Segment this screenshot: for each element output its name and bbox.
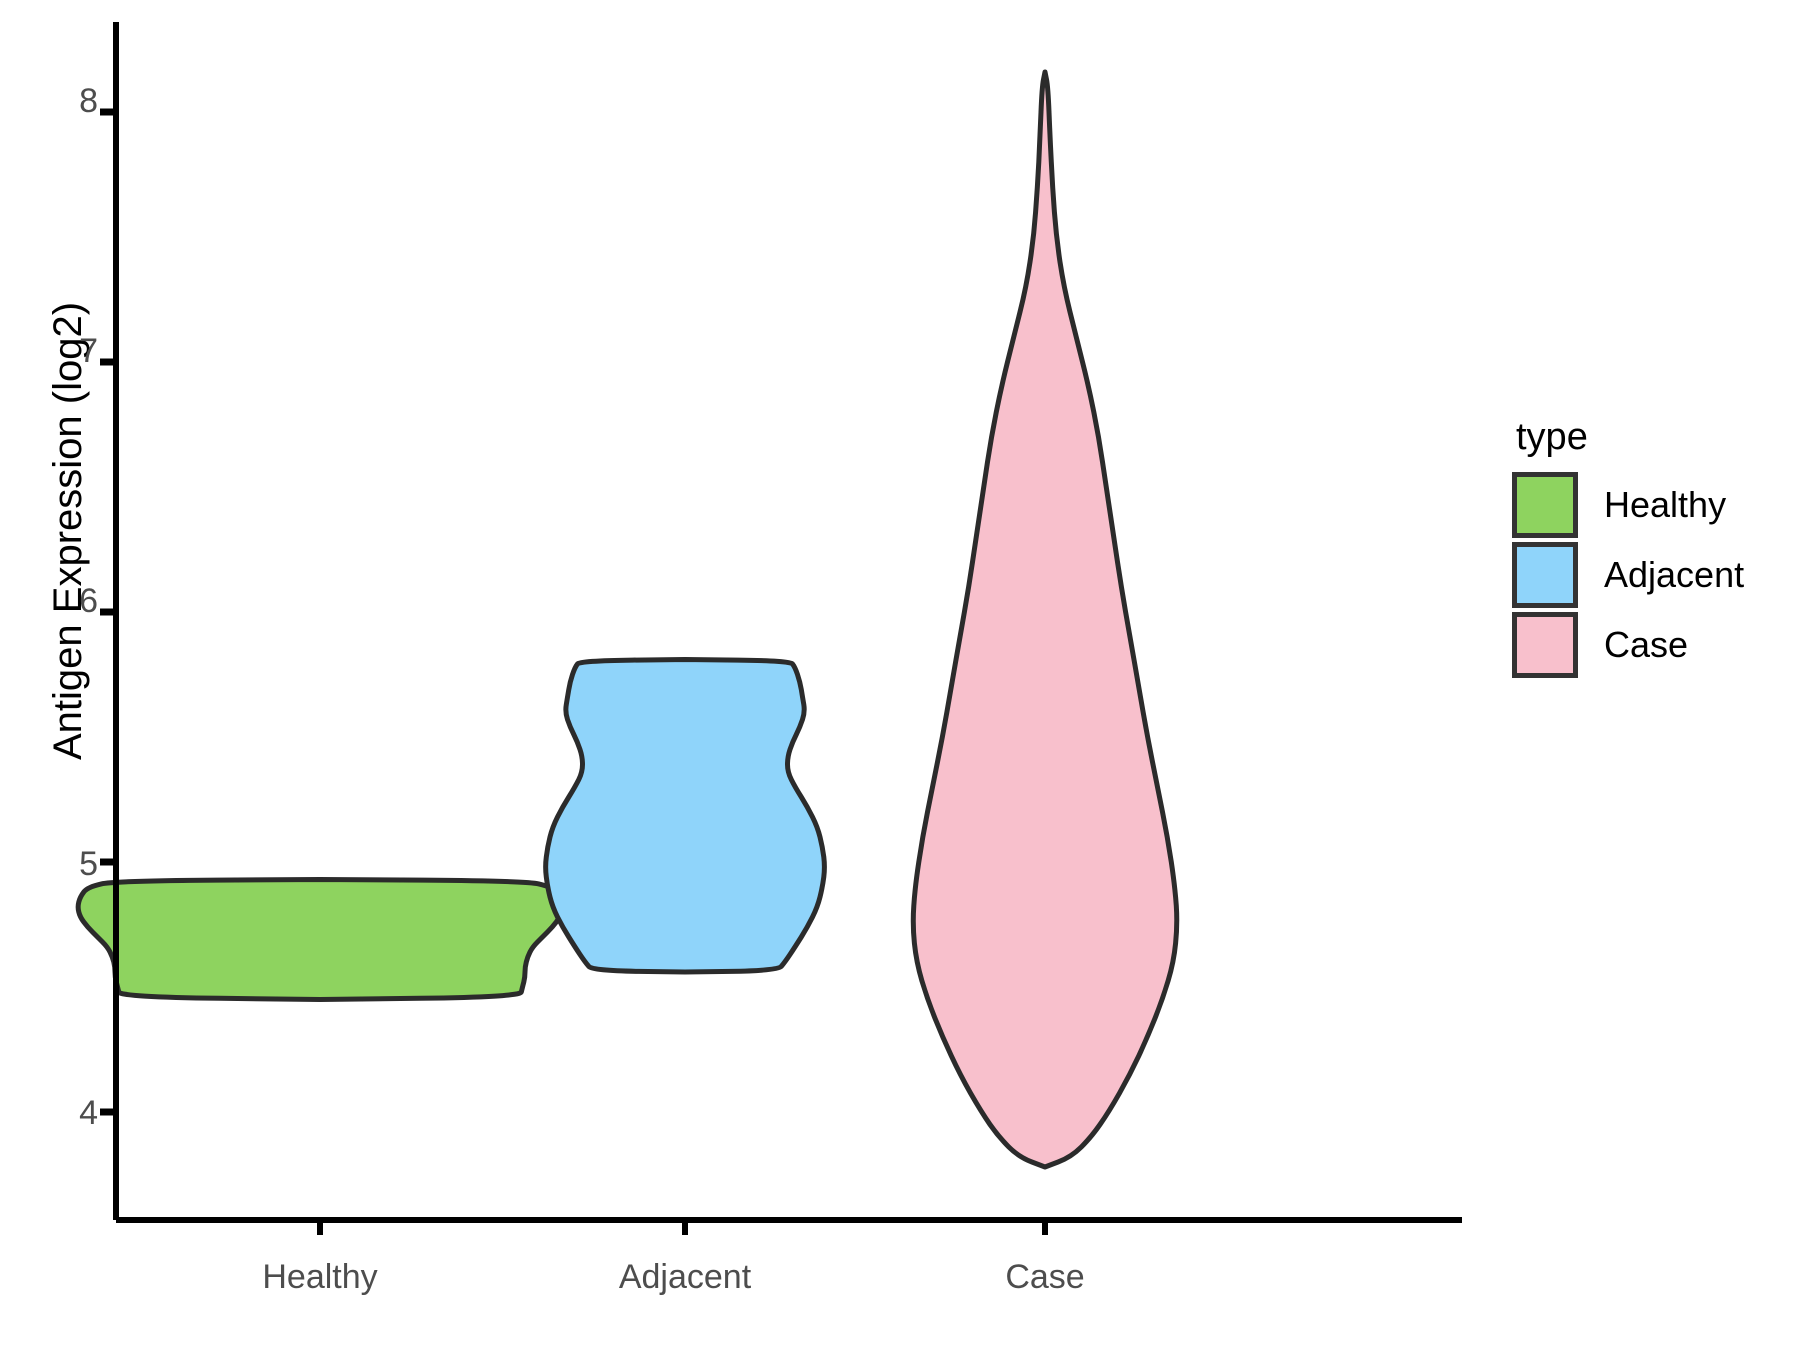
violin-healthy bbox=[78, 880, 562, 1000]
legend-item-adjacent[interactable]: Adjacent bbox=[1512, 540, 1792, 610]
legend-item-case[interactable]: Case bbox=[1512, 610, 1792, 680]
violin-plot-figure: Antigen Expression (log2) 8 7 6 5 4 Heal… bbox=[0, 0, 1800, 1350]
legend-key-adjacent bbox=[1512, 542, 1578, 608]
violin-case bbox=[913, 72, 1176, 1167]
panel-area bbox=[78, 72, 1177, 1167]
legend: type Healthy Adjacent Case bbox=[1512, 418, 1792, 680]
legend-key-healthy bbox=[1512, 472, 1578, 538]
legend-title: type bbox=[1516, 418, 1792, 456]
legend-item-healthy[interactable]: Healthy bbox=[1512, 470, 1792, 540]
legend-key-case bbox=[1512, 612, 1578, 678]
legend-label-adjacent: Adjacent bbox=[1604, 557, 1744, 593]
violin-adjacent bbox=[546, 660, 825, 973]
legend-label-case: Case bbox=[1604, 627, 1688, 663]
legend-label-healthy: Healthy bbox=[1604, 487, 1726, 523]
axis-lines bbox=[100, 22, 1462, 1235]
